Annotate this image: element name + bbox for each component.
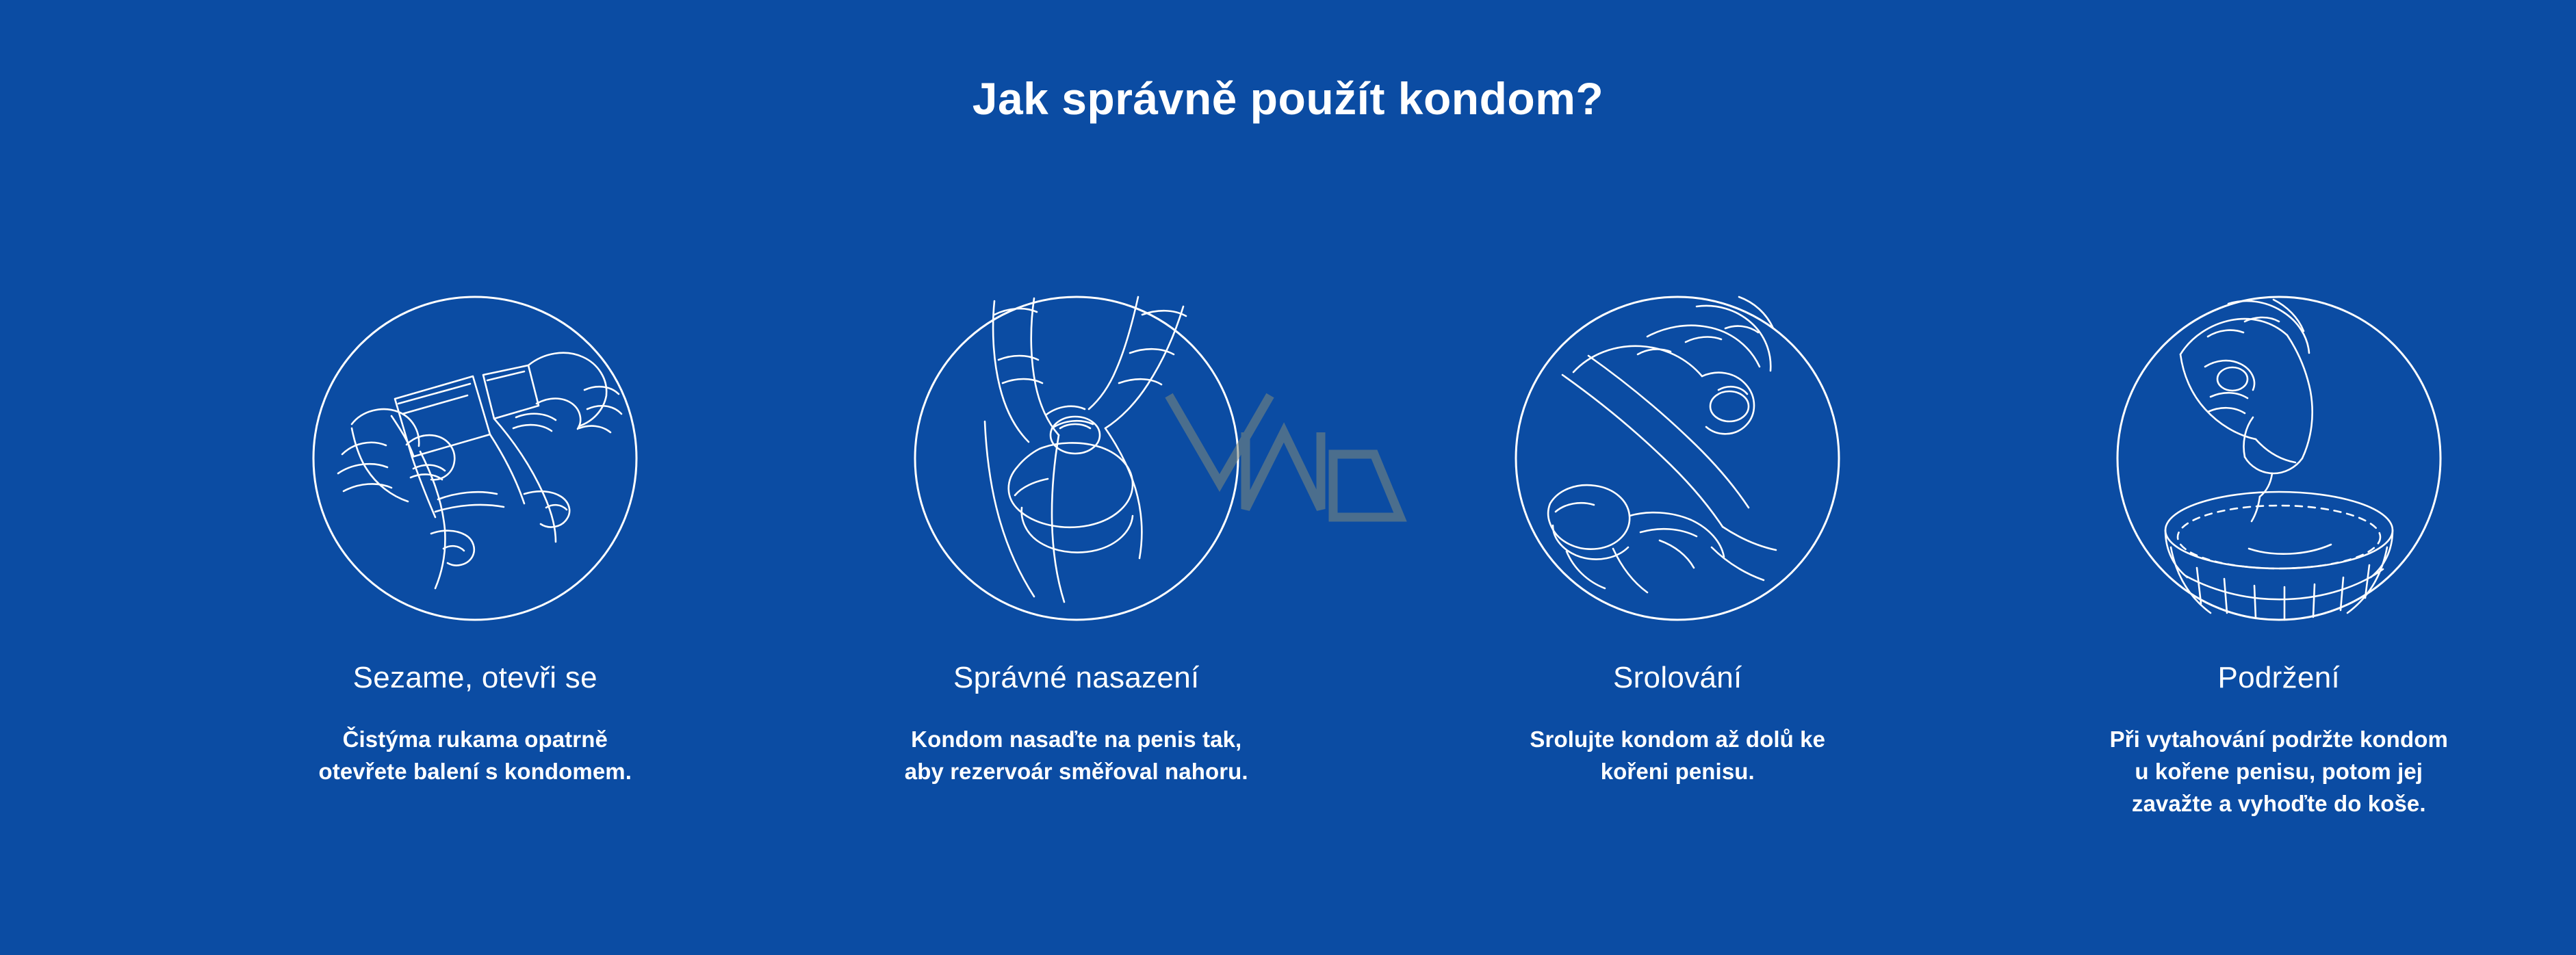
- hand-pinching-condom-reservoir-tip-icon: [912, 294, 1241, 623]
- step-heading: Sezame, otevři se: [353, 660, 597, 696]
- step-card-1: Sezame, otevři se Čistýma rukama opatrně…: [178, 294, 773, 788]
- step-body: Srolujte kondom až dolů ke kořeni penisu…: [1530, 724, 1825, 788]
- step-heading: Srolování: [1613, 660, 1742, 696]
- step-body-line: u kořene penisu, potom jej: [2110, 756, 2448, 788]
- step-card-2: Správné nasazení Kondom nasaďte na penis…: [780, 294, 1374, 788]
- step-body-line: Při vytahování podržte kondom: [2110, 724, 2448, 756]
- step-body: Kondom nasaďte na penis tak, aby rezervo…: [905, 724, 1248, 788]
- step-body-line: aby rezervoár směřoval nahoru.: [905, 756, 1248, 788]
- step-heading: Správné nasazení: [953, 660, 1200, 696]
- step-body: Čistýma rukama opatrně otevřete balení s…: [319, 724, 632, 788]
- step-card-3: Srolování Srolujte kondom až dolů ke koř…: [1380, 294, 1975, 788]
- hands-tearing-condom-wrapper-icon: [311, 294, 639, 623]
- step-card-4: Podržení Při vytahování podržte kondom u…: [1982, 294, 2576, 820]
- step-body-line: kořeni penisu.: [1530, 756, 1825, 788]
- step-body-line: Kondom nasaďte na penis tak,: [905, 724, 1248, 756]
- step-body-line: Srolujte kondom až dolů ke: [1530, 724, 1825, 756]
- condom-usage-infographic: Jak správně použít kondom?: [0, 0, 2576, 955]
- step-body-line: otevřete balení s kondomem.: [319, 756, 632, 788]
- step-body: Při vytahování podržte kondom u kořene p…: [2110, 724, 2448, 820]
- step-body-line: zavažte a vyhoďte do koše.: [2110, 788, 2448, 820]
- hand-rolling-condom-down-icon: [1513, 294, 1842, 623]
- step-body-line: Čistýma rukama opatrně: [319, 724, 632, 756]
- step-heading: Podržení: [2217, 660, 2340, 696]
- hand-dropping-condom-into-bin-icon: [2115, 294, 2443, 623]
- page-title: Jak správně použít kondom?: [0, 74, 2576, 124]
- steps-row: Sezame, otevři se Čistýma rukama opatrně…: [0, 294, 2576, 910]
